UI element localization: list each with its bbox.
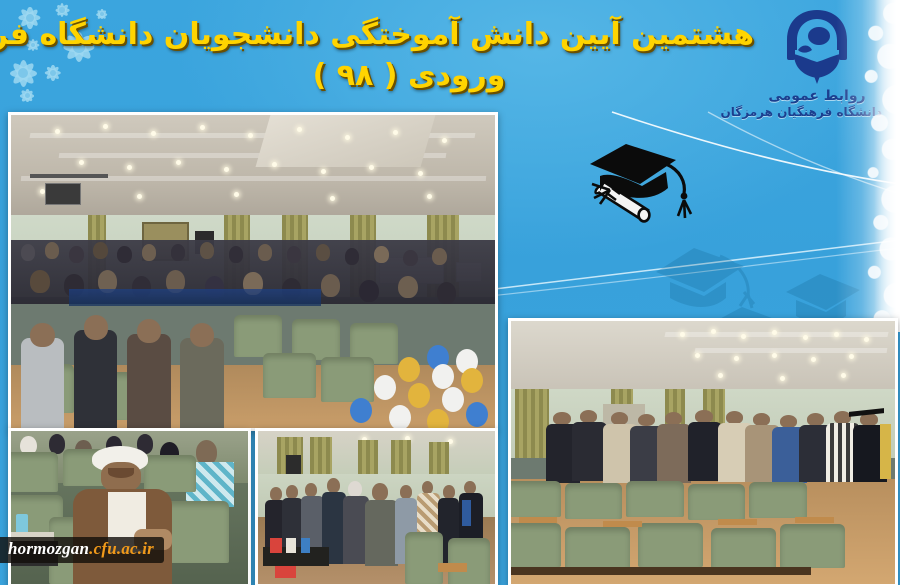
daisy-flower-icon [8, 58, 38, 88]
auditorium-ceremony-wide-photo [8, 112, 498, 431]
daisy-flower-icon [44, 64, 62, 82]
university-logo-block: روابط عمومی دانشگاه فرهنگیان هرمزگان [752, 6, 882, 119]
page-title-line1: هشتمین آیین دانش آموختگی دانشجویان دانشگ… [0, 17, 754, 52]
watermark-domain-suffix: .cfu.ac.ir [89, 539, 154, 558]
poster-canvas: هشتمین آیین دانش آموختگی دانشجویان دانشگ… [0, 0, 900, 585]
logo-caption-university: دانشگاه فرهنگیان هرمزگان [752, 105, 882, 119]
watermark-domain-name: hormozgan [8, 539, 89, 558]
cfu-hormozgan-emblem-icon [774, 6, 860, 86]
logo-caption-public-relations: روابط عمومی [752, 88, 882, 104]
daisy-flower-icon [20, 88, 35, 103]
site-watermark: hormozgan.cfu.ac.ir [0, 537, 164, 563]
page-title: هشتمین آیین دانش آموختگی دانشجویان دانشگ… [64, 14, 754, 97]
page-title-line2: ورودی ( ۹۸ ) [64, 55, 754, 96]
officials-standing-photo [255, 428, 498, 585]
decorative-arc-lines [520, 110, 900, 240]
graduation-cap-with-diploma-icon [586, 142, 694, 228]
male-graduates-group-photo [508, 318, 898, 585]
